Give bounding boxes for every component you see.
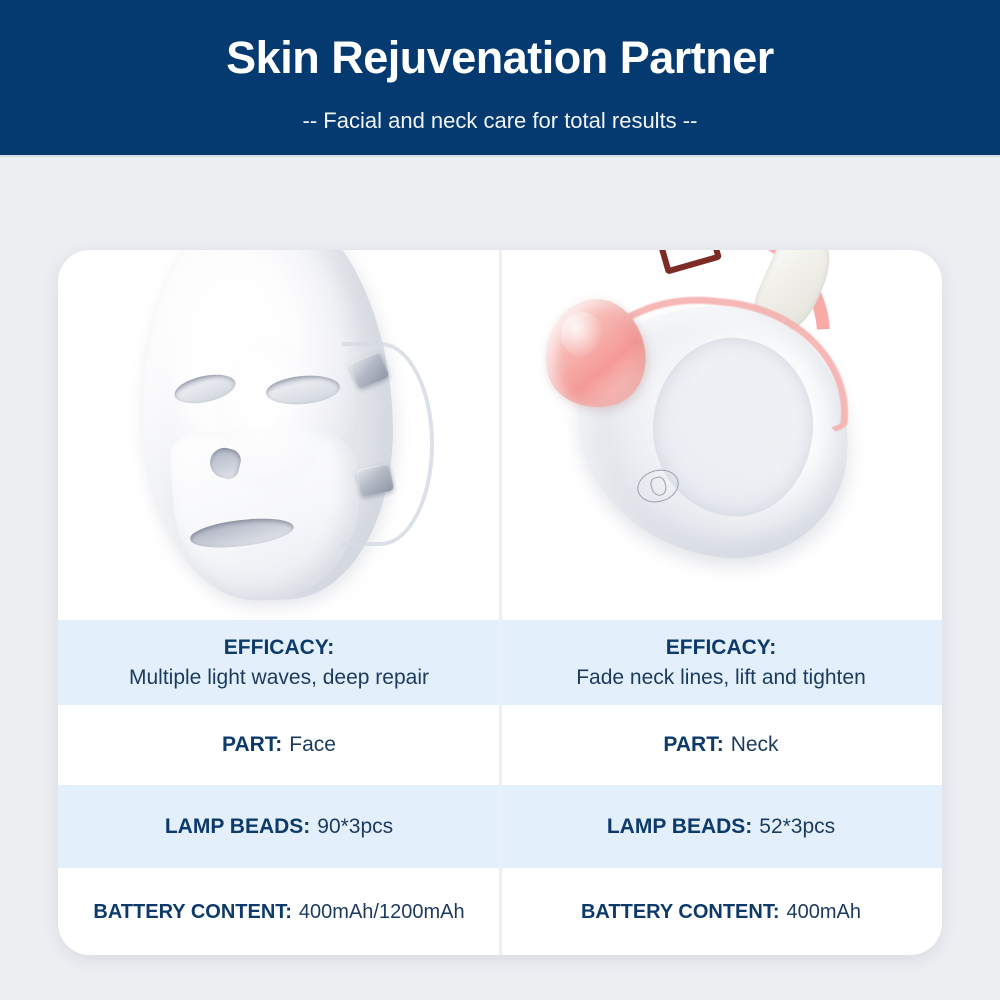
spec-label-lamp-beads: LAMP BEADS:: [607, 813, 752, 840]
page-subtitle: -- Facial and neck care for total result…: [0, 106, 1000, 136]
spec-cell-efficacy-neck: EFFICACY: Fade neck lines, lift and tigh…: [500, 620, 942, 705]
led-neck-device-illustration: [511, 250, 931, 620]
spec-cell-part-face: PART: Face: [58, 705, 500, 785]
spec-label-battery: BATTERY CONTENT:: [581, 899, 780, 926]
spec-value-lamp-beads: 52*3pcs: [759, 813, 835, 841]
product-image-face-mask: [58, 250, 500, 620]
spec-label-efficacy: EFFICACY:: [666, 634, 776, 661]
spec-value-part: Face: [289, 731, 336, 759]
spec-value-lamp-beads: 90*3pcs: [317, 813, 393, 841]
spec-label-battery: BATTERY CONTENT:: [93, 899, 292, 926]
spec-label-lamp-beads: LAMP BEADS:: [165, 813, 310, 840]
spec-cell-battery-face: BATTERY CONTENT: 400mAh/1200mAh: [58, 868, 500, 955]
column-divider: [499, 250, 502, 955]
page-title: Skin Rejuvenation Partner: [0, 32, 1000, 84]
spec-cell-lamp-beads-face: LAMP BEADS: 90*3pcs: [58, 785, 500, 868]
header-banner: Skin Rejuvenation Partner -- Facial and …: [0, 0, 1000, 157]
spec-cell-part-neck: PART: Neck: [500, 705, 942, 785]
spec-cell-efficacy-face: EFFICACY: Multiple light waves, deep rep…: [58, 620, 500, 705]
spec-value-efficacy: Multiple light waves, deep repair: [129, 664, 429, 692]
spec-cell-battery-neck: BATTERY CONTENT: 400mAh: [500, 868, 942, 955]
spec-value-part: Neck: [731, 731, 779, 759]
spec-label-part: PART:: [663, 731, 723, 758]
spec-value-battery: 400mAh: [787, 898, 862, 926]
spec-value-battery: 400mAh/1200mAh: [299, 898, 465, 926]
product-image-neck-device: [500, 250, 942, 620]
spec-label-part: PART:: [222, 731, 282, 758]
spec-cell-lamp-beads-neck: LAMP BEADS: 52*3pcs: [500, 785, 942, 868]
comparison-card: EFFICACY: Multiple light waves, deep rep…: [58, 250, 942, 955]
spec-value-efficacy: Fade neck lines, lift and tighten: [576, 664, 866, 692]
led-face-mask-illustration: [114, 250, 444, 620]
spec-label-efficacy: EFFICACY:: [224, 634, 334, 661]
